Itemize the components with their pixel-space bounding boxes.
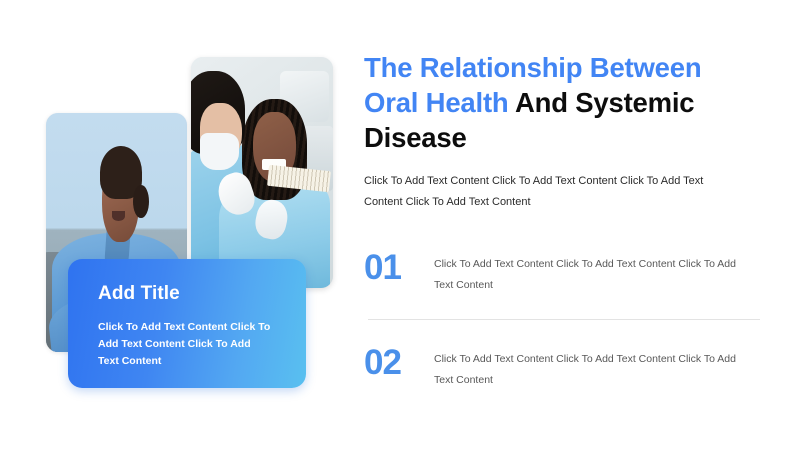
numbered-list: 01 Click To Add Text Content Click To Ad… bbox=[364, 251, 764, 390]
smile-shape bbox=[112, 211, 125, 221]
page-title: The Relationship Between Oral Health And… bbox=[364, 50, 764, 156]
visual-group: Add Title Click To Add Text Content Clic… bbox=[0, 0, 350, 450]
slide-canvas: Add Title Click To Add Text Content Clic… bbox=[0, 0, 799, 450]
card-body-text: Click To Add Text Content Click To Add T… bbox=[98, 319, 273, 370]
hair-bun-shape bbox=[133, 185, 149, 218]
list-item[interactable]: 02 Click To Add Text Content Click To Ad… bbox=[364, 346, 764, 390]
subtitle-text: Click To Add Text Content Click To Add T… bbox=[364, 171, 739, 214]
content-column: The Relationship Between Oral Health And… bbox=[364, 50, 764, 390]
dentist-face-mask-shape bbox=[200, 133, 240, 170]
dentist-patient-photo bbox=[191, 57, 333, 288]
item-text: Click To Add Text Content Click To Add T… bbox=[434, 346, 746, 390]
headline-line1: The Relationship Between bbox=[364, 52, 701, 83]
item-number: 01 bbox=[364, 251, 416, 285]
headline-line3: Disease bbox=[364, 122, 467, 153]
item-number: 02 bbox=[364, 346, 416, 380]
headline-line2-dark: And Systemic bbox=[515, 87, 694, 118]
headline-line2-blue: Oral Health bbox=[364, 87, 515, 118]
list-item[interactable]: 01 Click To Add Text Content Click To Ad… bbox=[364, 251, 764, 295]
add-title-card[interactable]: Add Title Click To Add Text Content Clic… bbox=[68, 259, 306, 388]
item-text: Click To Add Text Content Click To Add T… bbox=[434, 251, 746, 295]
card-title: Add Title bbox=[98, 283, 280, 305]
list-divider bbox=[368, 319, 760, 320]
